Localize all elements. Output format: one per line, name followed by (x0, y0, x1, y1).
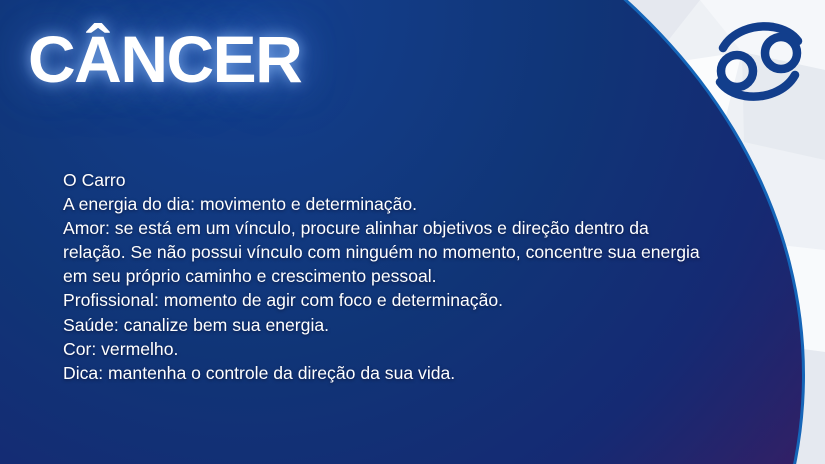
horoscope-text: O Carro A energia do dia: movimento e de… (63, 168, 763, 385)
horoscope-line: relação. Se não possui vínculo com ningu… (63, 240, 763, 264)
page-title: CÂNCER (28, 26, 301, 92)
horoscope-line: Amor: se está em um vínculo, procure ali… (63, 216, 763, 240)
horoscope-line: Saúde: canalize bem sua energia. (63, 313, 763, 337)
horoscope-line: Cor: vermelho. (63, 337, 763, 361)
horoscope-line: em seu próprio caminho e crescimento pes… (63, 264, 763, 288)
cancer-zodiac-glyph-icon (707, 18, 811, 104)
horoscope-line: Profissional: momento de agir com foco e… (63, 288, 763, 312)
horoscope-line: O Carro (63, 168, 763, 192)
horoscope-line: Dica: mantenha o controle da direção da … (63, 361, 763, 385)
horoscope-card: CÂNCER O Carro A energia do dia: movimen… (0, 0, 825, 464)
horoscope-line: A energia do dia: movimento e determinaç… (63, 192, 763, 216)
